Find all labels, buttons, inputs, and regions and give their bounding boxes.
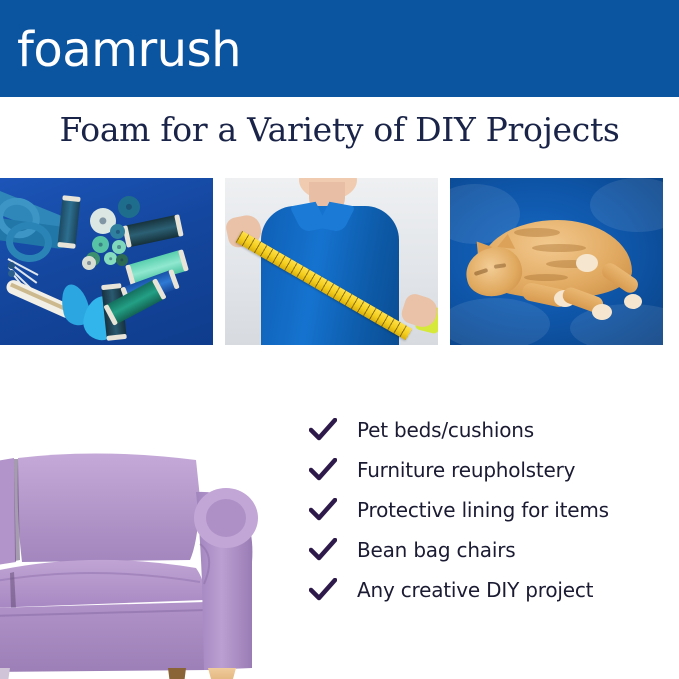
benefit-item: Protective lining for items <box>305 490 679 530</box>
tape-measure-photo <box>225 178 438 345</box>
photo-strip <box>0 178 679 345</box>
brand-logo: foamrush <box>17 24 241 76</box>
checkmark-icon <box>305 538 357 562</box>
benefit-item: Pet beds/cushions <box>305 410 679 450</box>
benefit-item: Any creative DIY project <box>305 570 679 610</box>
checkmark-icon <box>305 498 357 522</box>
header-band: foamrush <box>0 0 679 97</box>
benefit-label: Pet beds/cushions <box>357 418 534 442</box>
sewing-supplies-photo <box>0 178 213 345</box>
benefits-list: Pet beds/cushions Furniture reupholstery… <box>305 410 679 610</box>
benefit-item: Bean bag chairs <box>305 530 679 570</box>
cat-on-cushion-photo <box>450 178 663 345</box>
benefit-label: Furniture reupholstery <box>357 458 575 482</box>
benefit-label: Any creative DIY project <box>357 578 593 602</box>
benefit-item: Furniture reupholstery <box>305 450 679 490</box>
checkmark-icon <box>305 458 357 482</box>
page-headline: Foam for a Variety of DIY Projects <box>0 108 679 152</box>
product-infographic-page: foamrush Foam for a Variety of DIY Proje… <box>0 0 679 679</box>
checkmark-icon <box>305 418 357 442</box>
benefit-label: Bean bag chairs <box>357 538 515 562</box>
purple-sofa-illustration <box>0 432 290 679</box>
benefit-label: Protective lining for items <box>357 498 609 522</box>
checkmark-icon <box>305 578 357 602</box>
